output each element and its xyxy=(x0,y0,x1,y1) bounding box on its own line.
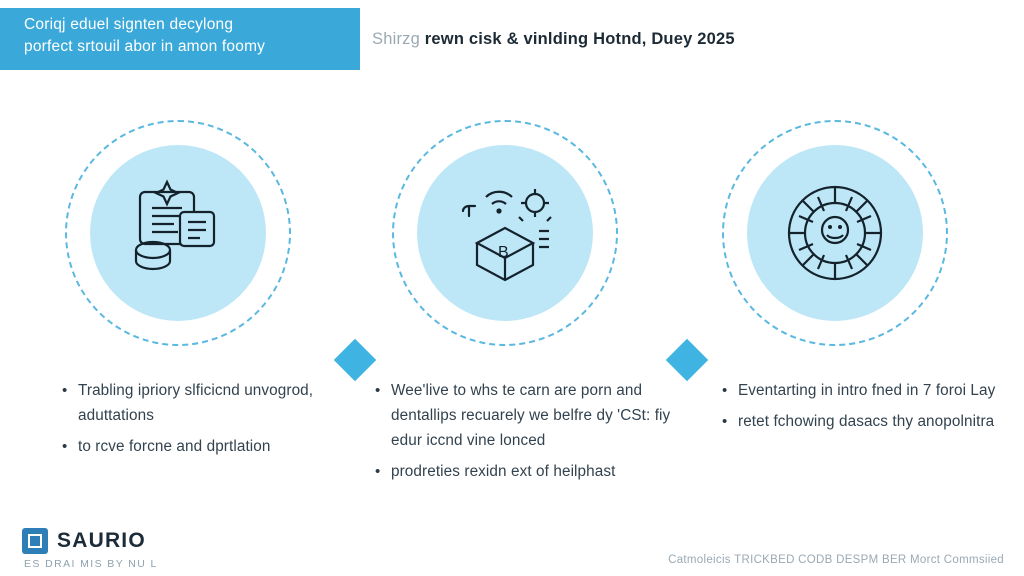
bullet-dot-icon: • xyxy=(722,378,738,403)
list-item: • Wee'live to whs te carn are porn and d… xyxy=(375,378,675,453)
page-title-ghost: Shirzg xyxy=(372,30,420,48)
footer-note: Catmoleicis TRICKBED CODB DESPM BER Morc… xyxy=(668,554,1004,566)
network-globe-icon xyxy=(747,145,923,321)
bullet-columns: • Trabling ipriory slficicnd unvogrod, a… xyxy=(0,378,1024,528)
svg-text:B: B xyxy=(498,244,509,261)
page-title: Shirzg rewn cisk & vinlding Hotnd, Duey … xyxy=(372,30,992,49)
bullet-text: retet fchowing dasacs thy anopolnitra xyxy=(738,409,1007,434)
document-card-icon xyxy=(90,145,266,321)
diamond-connector-2 xyxy=(666,339,708,381)
logo-text: SAURIO xyxy=(57,529,146,553)
bullet-column-1: • Trabling ipriory slficicnd unvogrod, a… xyxy=(62,378,342,465)
bullet-dot-icon: • xyxy=(722,409,738,434)
diamond-connector-1 xyxy=(334,339,376,381)
step-2[interactable]: B xyxy=(392,120,632,350)
bullet-column-3: • Eventarting in intro fned in 7 foroi L… xyxy=(722,378,1007,440)
wifi-device-icon: B xyxy=(417,145,593,321)
bullet-dot-icon: • xyxy=(62,434,78,459)
bullet-text: Trabling ipriory slficicnd unvogrod, adu… xyxy=(78,378,342,428)
steps-row: B xyxy=(0,120,1024,360)
bullet-dot-icon: • xyxy=(62,378,78,428)
page-title-main: rewn cisk & vinlding Hotnd, Duey 2025 xyxy=(425,30,735,48)
bullet-text: to rcve forcne and dprtlation xyxy=(78,434,342,459)
bullet-dot-icon: • xyxy=(375,378,391,453)
bullet-column-2: • Wee'live to whs te carn are porn and d… xyxy=(375,378,675,490)
step-3[interactable] xyxy=(722,120,962,350)
logo-subtitle: ES DRAI MIS BY NU L xyxy=(24,558,158,570)
brand-logo: SAURIO xyxy=(22,528,146,554)
step-1[interactable] xyxy=(65,120,305,350)
bullet-text: Wee'live to whs te carn are porn and den… xyxy=(391,378,675,453)
logo-mark-icon xyxy=(22,528,48,554)
list-item: • Eventarting in intro fned in 7 foroi L… xyxy=(722,378,1007,403)
list-item: • Trabling ipriory slficicnd unvogrod, a… xyxy=(62,378,342,428)
bullet-text: prodreties rexidn ext of heilphast xyxy=(391,459,675,484)
list-item: • prodreties rexidn ext of heilphast xyxy=(375,459,675,484)
list-item: • to rcve forcne and dprtlation xyxy=(62,434,342,459)
header-band-line2: porfect srtouil abor in amon foomy xyxy=(24,36,354,58)
list-item: • retet fchowing dasacs thy anopolnitra xyxy=(722,409,1007,434)
bullet-dot-icon: • xyxy=(375,459,391,484)
bullet-text: Eventarting in intro fned in 7 foroi Lay xyxy=(738,378,1007,403)
header-band-line1: Coriqj eduel signten decylong xyxy=(24,14,354,36)
header-band-text: Coriqj eduel signten decylong porfect sr… xyxy=(24,14,354,58)
